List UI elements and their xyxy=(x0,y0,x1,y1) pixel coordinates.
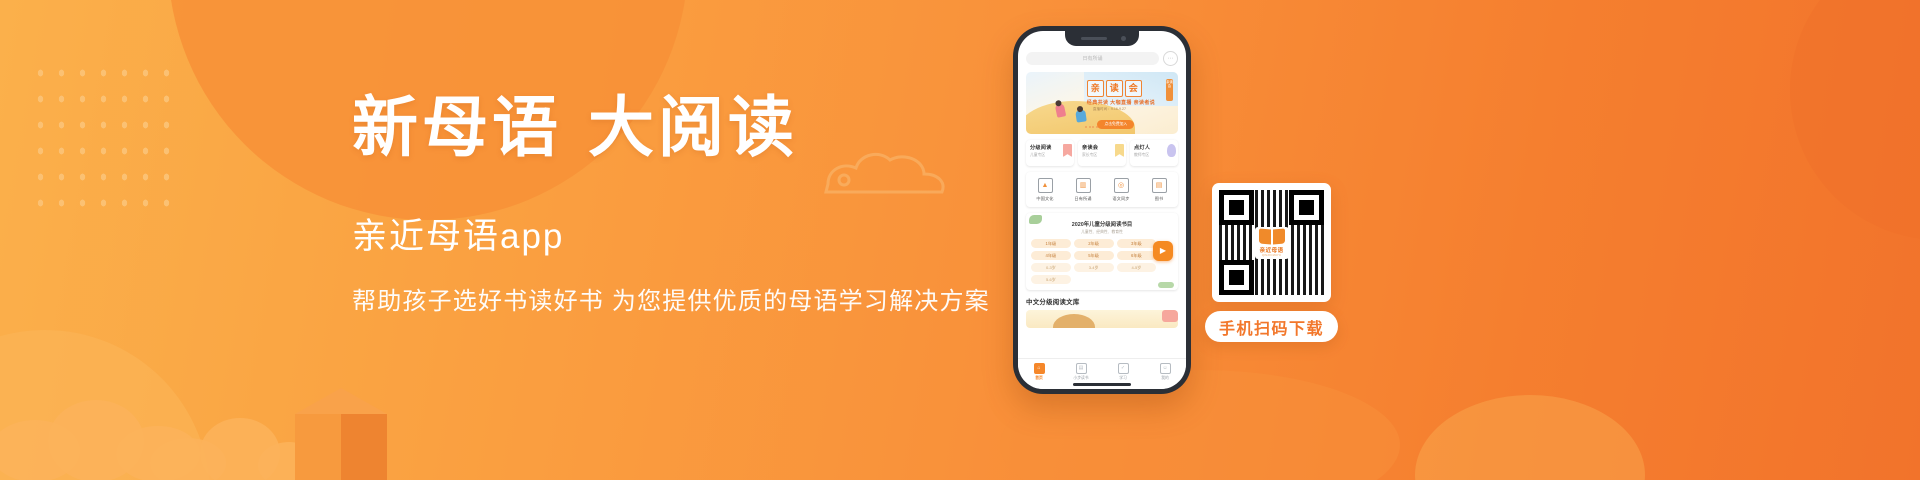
lantern-icon: ▲ xyxy=(1038,178,1053,193)
category-card-parent-club[interactable]: 亲读会 家长专区 xyxy=(1078,140,1126,166)
cloud-shape-left xyxy=(0,392,200,480)
brand-logo: 亲近母语 QINJIN MUYU xyxy=(1255,227,1289,259)
qr-finder-top-right xyxy=(1289,190,1324,225)
download-button[interactable]: 手机扫码下载 xyxy=(1205,311,1338,342)
shortcut-books[interactable]: ▤ 图书 xyxy=(1140,178,1178,202)
library-card[interactable] xyxy=(1026,310,1178,328)
ellipsis-icon[interactable]: ⋯ xyxy=(1163,51,1178,66)
headline-part-1: 新母语 xyxy=(352,92,562,165)
background-circle-right xyxy=(1790,0,1920,240)
leaf-ornament-2 xyxy=(1158,282,1174,288)
open-book-icon xyxy=(1259,229,1285,245)
headline-block: 新母语大阅读 亲近母语app 帮助孩子选好书读好书 为您提供优质的母语学习解决方… xyxy=(352,92,1032,318)
tab-label: 首页 xyxy=(1018,376,1060,381)
qr-code-card: 亲近母语 QINJIN MUYU xyxy=(1212,183,1331,302)
play-video-icon[interactable]: ▶ xyxy=(1153,241,1173,261)
qr-code-image: 亲近母语 QINJIN MUYU xyxy=(1219,190,1324,295)
search-row: 日有所诵 ⋯ xyxy=(1026,51,1178,66)
study-icon: ✓ xyxy=(1118,363,1129,374)
sync-icon: ◎ xyxy=(1114,178,1129,193)
category-card-teachers[interactable]: 点灯人 教师专区 xyxy=(1130,140,1178,166)
leaf-ornament xyxy=(1029,215,1042,224)
book-icon: ▤ xyxy=(1152,178,1167,193)
tab-profile[interactable]: ☺ 我的 xyxy=(1144,363,1186,381)
carousel-dots[interactable] xyxy=(1085,126,1098,128)
app-screen: 日有所诵 ⋯ 亲 读 会 亲读会 经典共读 大咖直播 亲读者说 直播时间：9.1… xyxy=(1018,31,1186,389)
promo-date: 直播时间：9.16-9.27 xyxy=(1093,107,1126,112)
promo-join-button[interactable]: 点击免费加入 xyxy=(1097,120,1134,129)
age-chip[interactable]: 5-6岁 xyxy=(1031,275,1071,284)
grade-chip-grid: 1年级 2年级 3年级 4年级 5年级 6年级 0-3岁 3-4岁 4-5岁 5… xyxy=(1031,239,1173,284)
headline-part-2: 大阅读 xyxy=(588,92,798,165)
qr-glow-ellipse xyxy=(1415,395,1645,480)
tab-label: 小步读书 xyxy=(1060,376,1102,381)
tab-reading[interactable]: ▤ 小步读书 xyxy=(1060,363,1102,381)
grade-chip[interactable]: 1年级 xyxy=(1031,239,1071,248)
cube-ornament xyxy=(295,388,387,480)
tab-label: 学习 xyxy=(1102,376,1144,381)
library-section-title: 中文分级阅读文库 xyxy=(1026,297,1178,306)
shortcut-label: 中国文化 xyxy=(1026,196,1064,202)
background-circle-bottom-left xyxy=(0,330,210,480)
promo-banner: 新母语大阅读 亲近母语app 帮助孩子选好书读好书 为您提供优质的母语学习解决方… xyxy=(0,0,1920,480)
promo-card[interactable]: 亲 读 会 亲读会 经典共读 大咖直播 亲读者说 直播时间：9.16-9.27 … xyxy=(1026,72,1178,134)
cloud-shape-left-2 xyxy=(150,418,320,480)
shortcut-row: ▲ 中国文化 ▥ 日有所诵 ◎ 语文同步 ▤ 图书 xyxy=(1026,172,1178,207)
grade-chip[interactable]: 5年级 xyxy=(1074,251,1114,260)
bookmark-purple-icon xyxy=(1167,144,1176,157)
phone-mockup: 日有所诵 ⋯ 亲 读 会 亲读会 经典共读 大咖直播 亲读者说 直播时间：9.1… xyxy=(1013,26,1191,394)
age-chip[interactable]: 3-4岁 xyxy=(1074,263,1114,272)
phone-home-indicator xyxy=(1073,383,1131,386)
booklist-title: 2020年儿童分级阅读书目 xyxy=(1031,220,1173,228)
promo-char-2: 读 xyxy=(1106,80,1123,97)
tab-home[interactable]: ⌂ 首页 xyxy=(1018,363,1060,381)
category-card-graded-reading[interactable]: 分级阅读 儿童专区 xyxy=(1026,140,1074,166)
shortcut-textbook-sync[interactable]: ◎ 语文同步 xyxy=(1102,178,1140,202)
brand-name-en: QINJIN MUYU xyxy=(1262,254,1281,257)
shortcut-label: 图书 xyxy=(1140,196,1178,202)
category-card-row: 分级阅读 儿童专区 亲读会 家长专区 点灯人 教师专区 xyxy=(1026,140,1178,166)
reading-icon: ▤ xyxy=(1076,363,1087,374)
grade-chip[interactable]: 2年级 xyxy=(1074,239,1114,248)
booklist-subtitle: 儿童性、经典性、教育性 xyxy=(1031,230,1173,235)
tab-label: 我的 xyxy=(1144,376,1186,381)
shortcut-daily-recite[interactable]: ▥ 日有所诵 xyxy=(1064,178,1102,202)
grade-chip[interactable]: 3年级 xyxy=(1117,239,1157,248)
promo-char-3: 会 xyxy=(1125,80,1142,97)
tab-study[interactable]: ✓ 学习 xyxy=(1102,363,1144,381)
age-chip[interactable]: 0-3岁 xyxy=(1031,263,1071,272)
shortcut-label: 语文同步 xyxy=(1102,196,1140,202)
tagline: 帮助孩子选好书读好书 为您提供优质的母语学习解决方案 xyxy=(352,286,1032,317)
profile-icon: ☺ xyxy=(1160,363,1171,374)
promo-subtitle: 经典共读 大咖直播 亲读者说 xyxy=(1087,99,1155,106)
promo-side-tag: 亲读会 xyxy=(1166,79,1173,101)
home-icon: ⌂ xyxy=(1034,363,1045,374)
page-title: 新母语大阅读 xyxy=(352,92,1032,166)
books-icon: ▥ xyxy=(1076,178,1091,193)
dot-grid-pattern xyxy=(30,60,175,220)
promo-title: 亲 读 会 xyxy=(1087,80,1142,97)
booklist-card: 2020年儿童分级阅读书目 儿童性、经典性、教育性 1年级 2年级 3年级 4年… xyxy=(1026,213,1178,290)
qr-finder-top-left xyxy=(1219,190,1254,225)
brand-name-zh: 亲近母语 xyxy=(1260,246,1284,254)
phone-notch xyxy=(1065,31,1139,46)
age-chip[interactable]: 4-5岁 xyxy=(1117,263,1157,272)
promo-char-1: 亲 xyxy=(1087,80,1104,97)
grade-chip[interactable]: 6年级 xyxy=(1117,251,1157,260)
shortcut-chinese-culture[interactable]: ▲ 中国文化 xyxy=(1026,178,1064,202)
qr-finder-bottom-left xyxy=(1219,260,1254,295)
search-input[interactable]: 日有所诵 xyxy=(1026,52,1159,65)
grade-chip[interactable]: 4年级 xyxy=(1031,251,1071,260)
shortcut-label: 日有所诵 xyxy=(1064,196,1102,202)
app-name: 亲近母语app xyxy=(352,218,1032,257)
